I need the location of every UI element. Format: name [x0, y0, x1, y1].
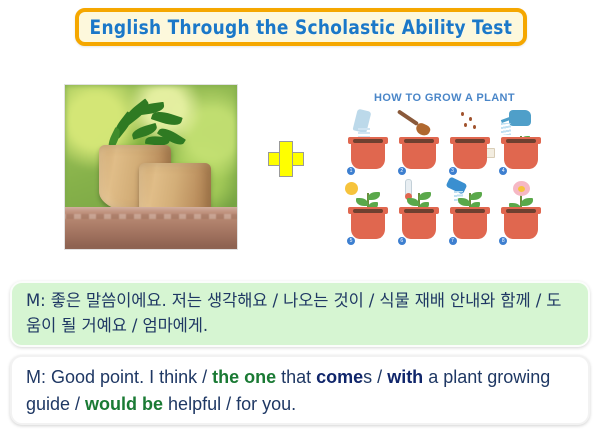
- step-badge: 7: [449, 237, 457, 245]
- trowel-handle-icon: [397, 109, 419, 126]
- plant-leaf: [458, 198, 470, 206]
- english-segment: the one: [212, 367, 276, 387]
- plant-pot-icon: [351, 212, 385, 239]
- page-title: English Through the Scholastic Ability T…: [90, 16, 513, 39]
- plus-icon: [268, 141, 304, 177]
- seed-icon: [469, 117, 472, 121]
- step-badge: 2: [398, 167, 406, 175]
- english-segment: that: [276, 367, 316, 387]
- infographic-step: 6: [394, 178, 445, 248]
- infographic-step: 2: [394, 108, 445, 178]
- step-badge: 3: [449, 167, 457, 175]
- step-badge: 5: [347, 237, 355, 245]
- english-script-text: M: Good point. I think / the one that co…: [26, 364, 574, 418]
- plant-leaf: [368, 192, 380, 200]
- plant-pot-icon: [402, 142, 436, 169]
- step-badge: 6: [398, 237, 406, 245]
- plant-pot-icon: [453, 142, 487, 169]
- english-segment: M: Good point. I think /: [26, 367, 212, 387]
- infographic-step: 7: [445, 178, 496, 248]
- english-segment: would be: [85, 394, 163, 414]
- how-to-grow-a-plant-infographic: HOW TO GROW A PLANT 1 2: [337, 81, 552, 251]
- wooden-table: [65, 207, 237, 249]
- english-segment: s /: [363, 367, 387, 387]
- potted-plant-photo: [65, 85, 237, 249]
- title-banner: English Through the Scholastic Ability T…: [75, 8, 527, 46]
- plant-pot-icon: [402, 212, 436, 239]
- seed-icon: [473, 125, 476, 129]
- plant-leaf: [419, 192, 431, 200]
- infographic-step: 8: [495, 178, 546, 248]
- plant-pot-icon: [453, 212, 487, 239]
- plus-center-patch: [281, 154, 292, 165]
- media-row: HOW TO GROW A PLANT 1 2: [0, 78, 600, 256]
- infographic-step: 3: [445, 108, 496, 178]
- english-script-panel: M: Good point. I think / the one that co…: [10, 355, 590, 425]
- infographic-step: 5: [343, 178, 394, 248]
- infographic-step: 4: [495, 108, 546, 178]
- english-segment: with: [387, 367, 423, 387]
- seed-icon: [464, 123, 467, 127]
- seed-icon: [461, 112, 464, 116]
- infographic-steps-grid: 1 2 3: [343, 108, 546, 248]
- step-badge: 4: [499, 167, 507, 175]
- flower-center-icon: [518, 186, 525, 192]
- plant-leaf: [470, 192, 482, 200]
- plant-pot-icon: [504, 142, 538, 169]
- korean-translation-text: M: 좋은 말씀이에요. 저는 생각해요 / 나오는 것이 / 식물 재배 안내…: [26, 288, 574, 338]
- plant-pot-icon: [351, 142, 385, 169]
- english-segment: come: [316, 367, 363, 387]
- step-badge: 8: [499, 237, 507, 245]
- trowel-blade-icon: [414, 121, 431, 137]
- korean-translation-panel: M: 좋은 말씀이에요. 저는 생각해요 / 나오는 것이 / 식물 재배 안내…: [10, 281, 590, 347]
- english-segment: helpful / for you.: [163, 394, 296, 414]
- plant-leaf: [521, 198, 533, 206]
- step-badge: 1: [347, 167, 355, 175]
- infographic-title: HOW TO GROW A PLANT: [337, 92, 552, 104]
- plant-pot-icon: [504, 212, 538, 239]
- infographic-step: 1: [343, 108, 394, 178]
